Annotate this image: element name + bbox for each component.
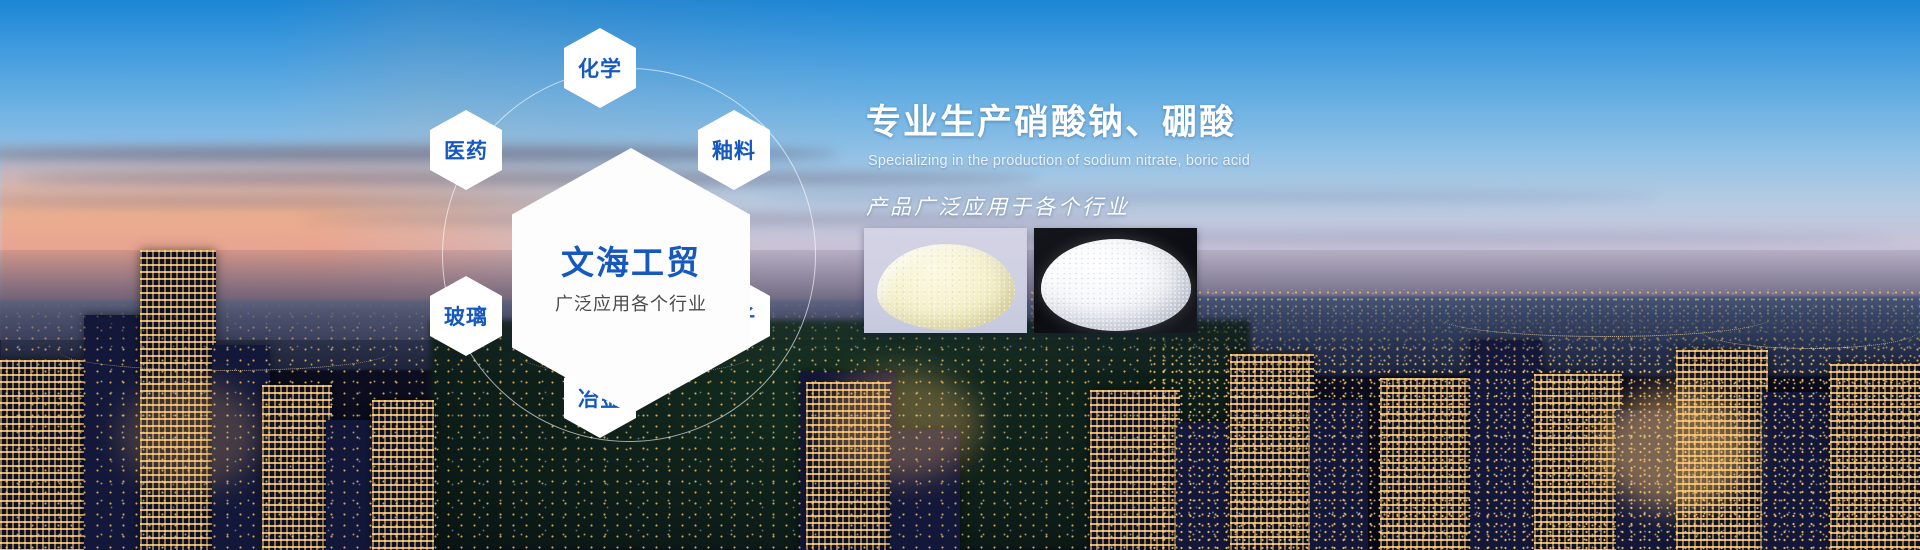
product-photo-sodium-nitrate[interactable] <box>864 228 1027 333</box>
powder-grain-texture <box>877 244 1015 330</box>
banner-subline-english: Specializing in the production of sodium… <box>868 153 1666 169</box>
hexagon-node-label: 医药 <box>444 135 488 165</box>
promo-banner: 化学 釉料 电子 冶金 玻璃 医药 文海工贸 广泛应用各个行业 专业生产硝酸钠、… <box>0 0 1920 550</box>
banner-headline: 专业生产硝酸钠、硼酸 <box>866 103 1666 144</box>
hexagon-node-label: 釉料 <box>712 135 756 165</box>
banner-tagline: 产品广泛应用于各个行业 <box>866 191 1666 221</box>
powder-heap <box>1041 239 1191 331</box>
powder-heap <box>877 244 1015 330</box>
product-photo-group <box>864 228 1197 333</box>
hexagon-node-label: 化学 <box>578 53 622 83</box>
company-name: 文海工贸 <box>561 246 701 279</box>
banner-text-block: 专业生产硝酸钠、硼酸 Specializing in the productio… <box>866 103 1666 221</box>
product-photo-boric-acid[interactable] <box>1034 228 1197 333</box>
powder-grain-texture <box>1041 239 1191 331</box>
bridge-lights <box>60 352 390 392</box>
bridge-lights <box>1700 330 1920 370</box>
light-glow <box>120 380 260 490</box>
industry-hexagon-diagram: 化学 釉料 电子 冶金 玻璃 医药 文海工贸 广泛应用各个行业 <box>430 28 900 488</box>
company-tagline: 广泛应用各个行业 <box>555 290 707 316</box>
hexagon-node-label: 玻璃 <box>444 301 488 331</box>
light-glow <box>1600 390 1750 510</box>
